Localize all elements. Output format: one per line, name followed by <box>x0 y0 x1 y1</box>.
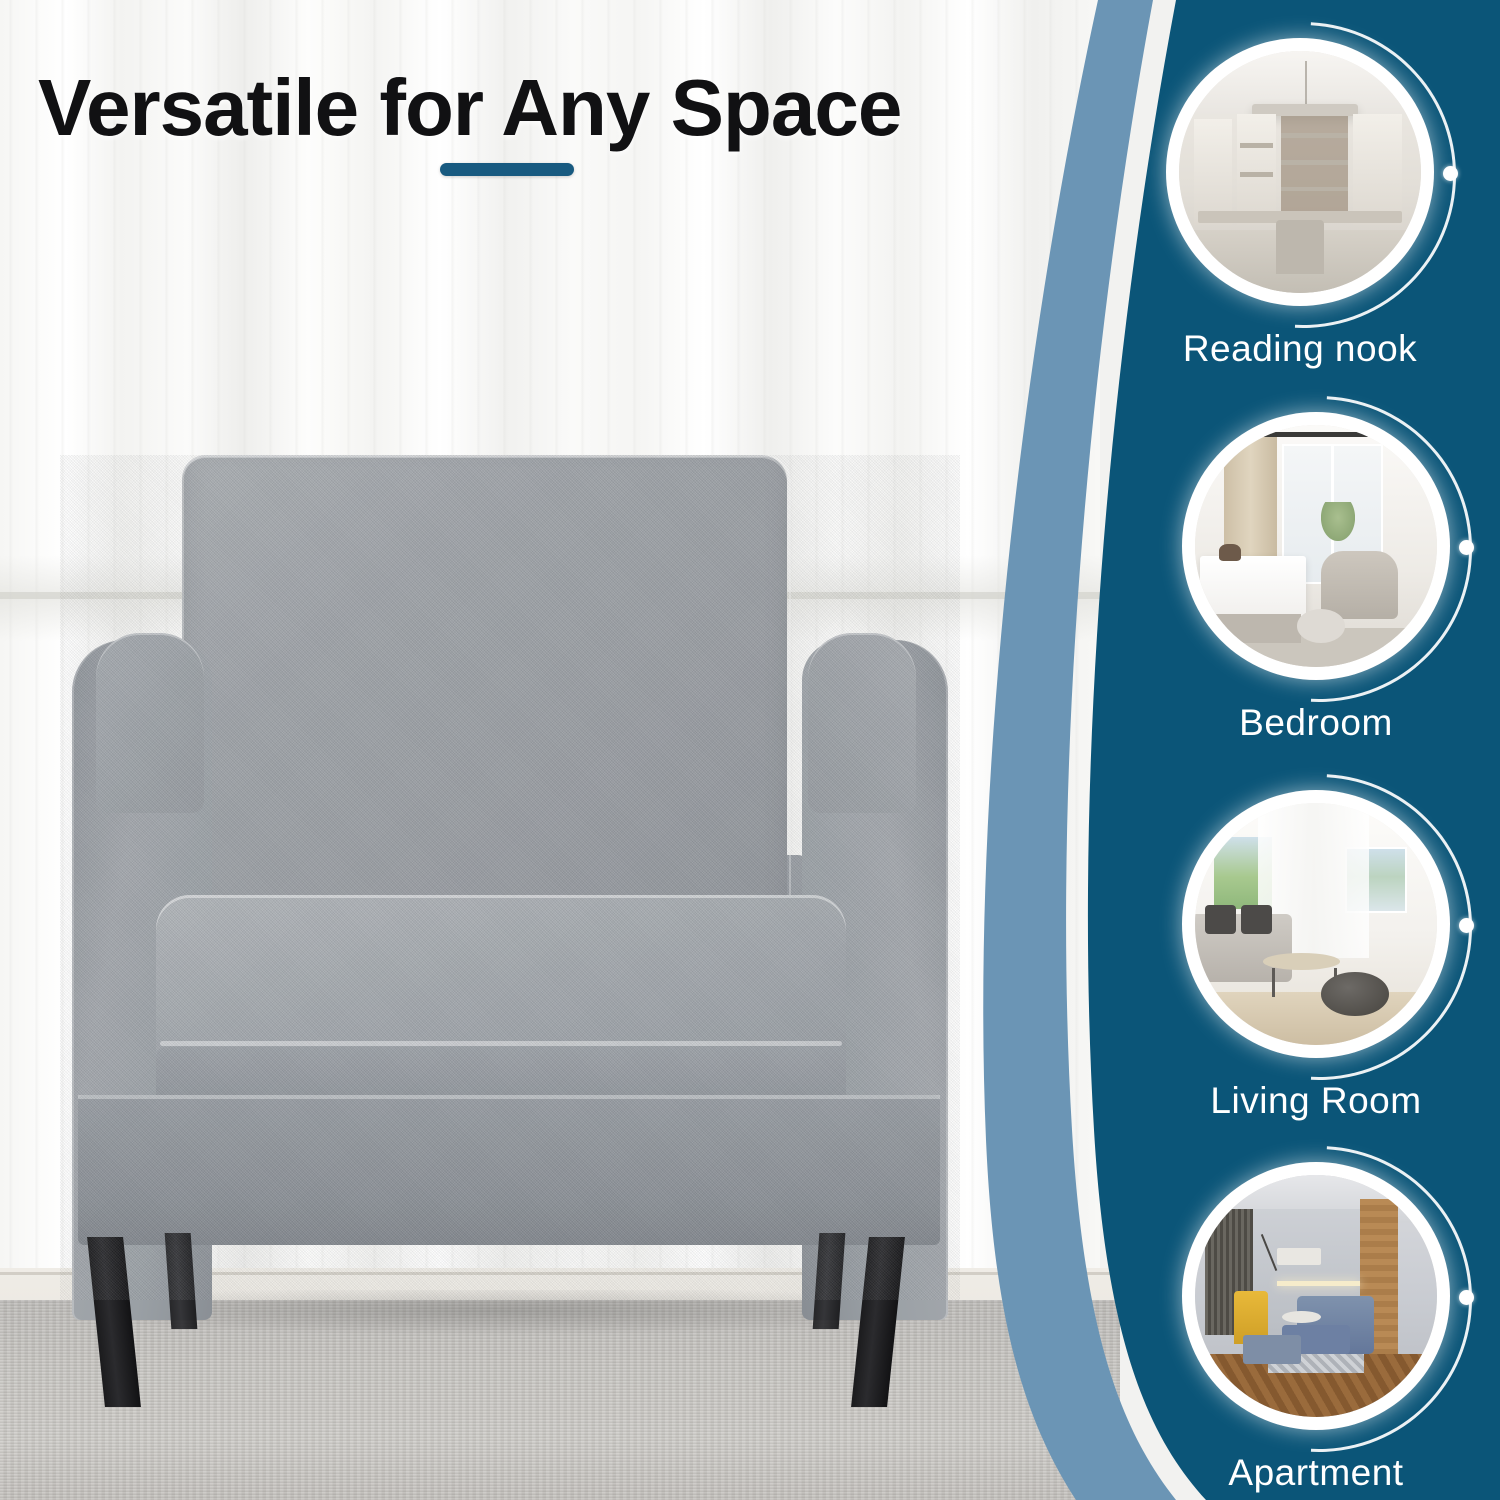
use-case-living-room[interactable]: Living Room <box>1166 790 1466 1122</box>
armchair-base-piping <box>78 1095 940 1099</box>
arc-dot-decoration <box>1443 166 1458 181</box>
use-case-label: Reading nook <box>1150 328 1450 370</box>
use-case-label: Living Room <box>1166 1080 1466 1122</box>
arc-dot-decoration <box>1459 918 1474 933</box>
use-case-panel: Reading nook <box>980 0 1500 1500</box>
armchair-left-arm-cap <box>96 633 204 813</box>
armchair-base <box>78 1095 940 1245</box>
apartment-photo <box>1195 1175 1437 1417</box>
armchair-right-arm-cap <box>808 633 916 813</box>
lifestyle-infographic: Versatile for Any Space <box>0 0 1500 1500</box>
arc-dot-decoration <box>1459 540 1474 555</box>
reading-nook-frame <box>1166 38 1434 306</box>
armchair <box>60 455 960 1300</box>
living-room-photo <box>1195 803 1437 1045</box>
bedroom-photo <box>1195 425 1437 667</box>
apartment-frame <box>1182 1162 1450 1430</box>
use-case-apartment[interactable]: Apartment <box>1166 1162 1466 1494</box>
page-title: Versatile for Any Space <box>38 62 1038 154</box>
arc-dot-decoration <box>1459 1290 1474 1305</box>
bedroom-frame <box>1182 412 1450 680</box>
use-case-reading-nook[interactable]: Reading nook <box>1150 38 1450 370</box>
title-underline-accent <box>440 163 574 176</box>
armchair-seat-piping <box>160 1041 842 1046</box>
use-case-list: Reading nook <box>980 0 1500 1500</box>
use-case-label: Bedroom <box>1166 702 1466 744</box>
living-room-frame <box>1182 790 1450 1058</box>
use-case-label: Apartment <box>1166 1452 1466 1494</box>
use-case-bedroom[interactable]: Bedroom <box>1166 412 1466 744</box>
armchair-back-piping <box>182 455 791 957</box>
reading-nook-photo <box>1179 51 1421 293</box>
